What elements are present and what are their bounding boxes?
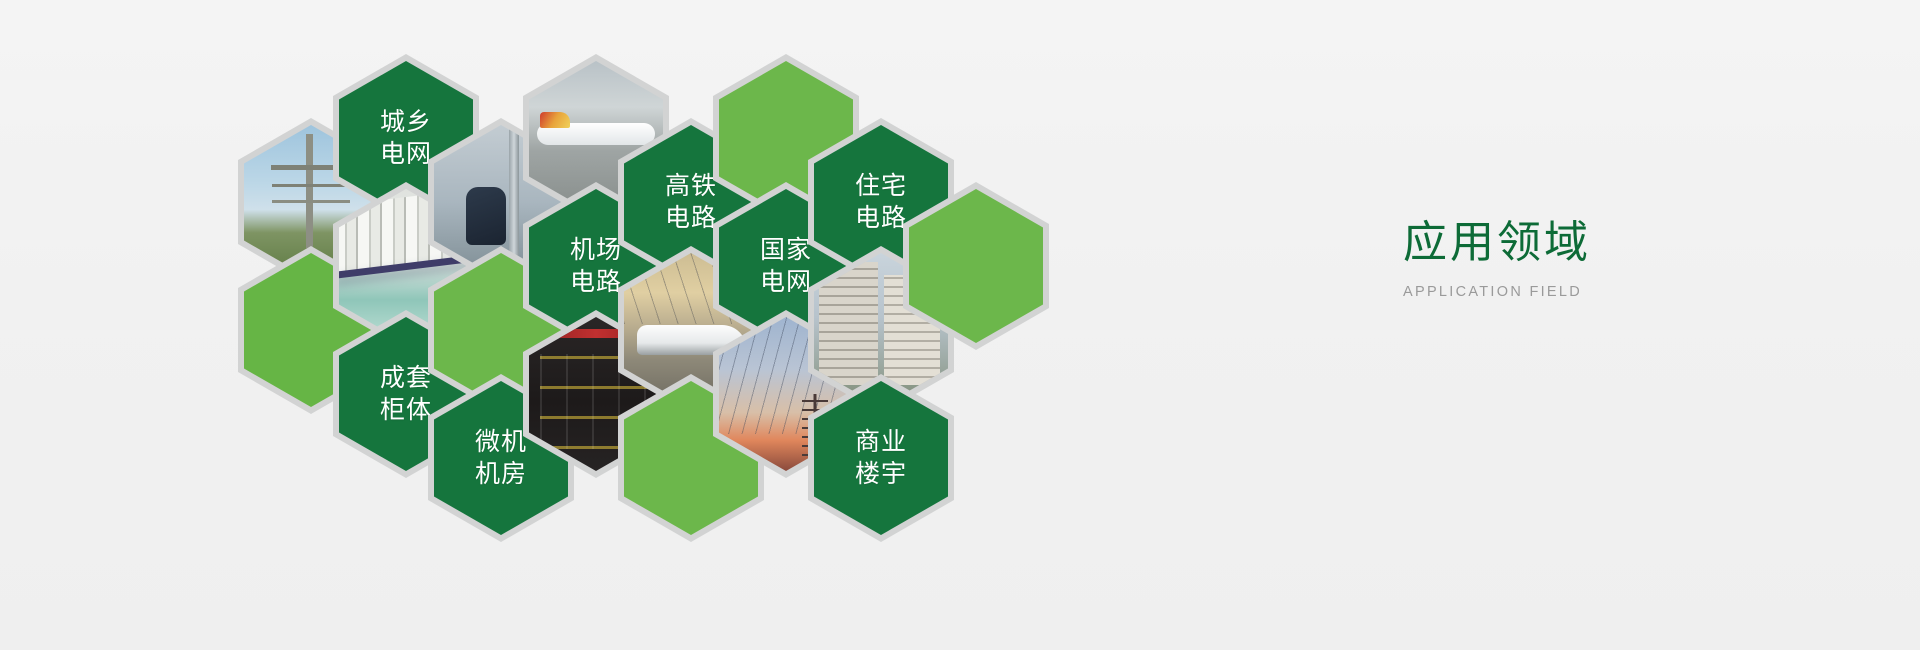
hex-label-residential-circuit: 住宅 电路: [855, 170, 907, 234]
hex-label-microcomputer-room: 微机 机房: [475, 426, 527, 490]
hex-cell-plain-5[interactable]: [903, 182, 1049, 350]
application-field-banner: 城乡 电网 成套 柜体: [0, 0, 1920, 650]
hexagon-honeycomb: 城乡 电网 成套 柜体: [0, 0, 1200, 650]
page-title: 应用领域: [1403, 220, 1823, 266]
hex-label-commercial-building: 商业 楼宇: [855, 426, 907, 490]
hex-label-switchgear-assembly: 成套 柜体: [380, 362, 432, 426]
headline-block: 应用领域 APPLICATION FIELD: [1403, 220, 1823, 300]
hex-label-state-grid: 国家 电网: [760, 234, 812, 298]
hex-label-highspeed-rail-circuit: 高铁 电路: [665, 170, 717, 234]
hex-cell-commercial-building[interactable]: 商业 楼宇: [808, 374, 954, 542]
hex-label-airport-circuit: 机场 电路: [570, 234, 622, 298]
hex-label-urban-rural-grid: 城乡 电网: [380, 106, 432, 170]
page-subtitle: APPLICATION FIELD: [1403, 284, 1823, 300]
